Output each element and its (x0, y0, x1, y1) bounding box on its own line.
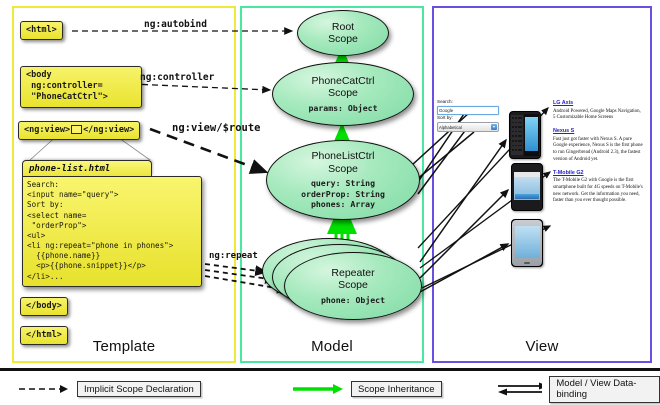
double-arrow-icon (497, 382, 542, 396)
phone3-screen (515, 226, 540, 258)
partial-phone-list: phone-list.html Search: <input name="que… (22, 160, 202, 287)
phone-thumbnail-tmobile-g2 (511, 219, 543, 267)
scope-phonecatctrl-props: params: Object (308, 103, 377, 114)
phone1-keyboard (511, 115, 523, 155)
phone1-key (520, 131, 522, 133)
diagram-canvas: Template Model View (0, 0, 660, 405)
phone1-key (520, 117, 522, 119)
partial-filename: phone-list.html (22, 160, 152, 176)
legend-item-inheritance: Scope Inheritance (292, 381, 442, 397)
tag-ngview-close: </ng:view> (83, 125, 134, 135)
phone3-home-button (524, 262, 530, 265)
phone1-key (520, 122, 522, 124)
scope-phonecatctrl-title: PhoneCatCtrl Scope (311, 75, 374, 100)
phone1-key (512, 117, 514, 119)
phone2-dock (515, 194, 539, 199)
label-ng-autobind: ng:autobind (144, 19, 207, 30)
scope-repeater-stack: Repeater Scope phone: Object (262, 238, 422, 324)
list-item: LG Axis Android Powered, Google Maps Nav… (553, 100, 643, 122)
partial-code: Search: <input name="query"> Sort by: <s… (22, 176, 202, 287)
phone-snippet-lg-axis: Android Powered, Google Maps Navigation,… (553, 109, 643, 123)
tag-ngview-open: <ng:view> (24, 125, 70, 135)
phone-snippet-nexus-s: Fast just got faster with Nexus S. A pur… (553, 137, 643, 164)
phone1-key (512, 140, 514, 142)
list-item: Nexus S Fast just got faster with Nexus … (553, 128, 643, 164)
phone1-key (515, 149, 517, 151)
phone1-key (520, 126, 522, 128)
dashed-arrow-icon (18, 383, 70, 395)
ngview-placeholder-box (71, 125, 82, 134)
scope-phonelistctrl-props: query: String orderProp: String phones: … (301, 178, 385, 210)
phone1-key (515, 131, 517, 133)
phone-link-nexus-s[interactable]: Nexus S (553, 128, 643, 135)
phone1-key (512, 145, 514, 147)
sort-label: Sort by: (437, 115, 499, 122)
panel-view-label: View (434, 338, 650, 355)
phone1-key (520, 149, 522, 151)
search-input[interactable]: Google (437, 106, 499, 115)
view-search-form: Search: Google Sort by: Alphabetical ▾ (437, 99, 499, 132)
legend-divider (0, 368, 660, 371)
phone-link-tmobile-g2[interactable]: T-Mobile G2 (553, 170, 643, 177)
tag-html-close: </html> (20, 326, 68, 345)
phone1-key (512, 135, 514, 137)
phone1-key (515, 140, 517, 142)
legend-item-implicit: Implicit Scope Declaration (18, 381, 201, 397)
sort-select[interactable]: Alphabetical ▾ (437, 122, 499, 132)
phone1-key (515, 135, 517, 137)
scope-phonelistctrl: PhoneListCtrl Scope query: String orderP… (266, 140, 420, 220)
phone1-key (518, 117, 520, 119)
tag-html-open: <html> (20, 21, 63, 40)
phone1-key (515, 117, 517, 119)
sort-select-value: Alphabetical (439, 125, 462, 130)
legend-label-inheritance: Scope Inheritance (351, 381, 442, 397)
phone1-key (520, 135, 522, 137)
legend-label-implicit: Implicit Scope Declaration (77, 381, 201, 397)
label-ng-controller: ng:controller (140, 72, 214, 83)
scope-root: Root Scope (297, 10, 389, 56)
legend-item-databinding: Model / View Data-binding (497, 381, 660, 397)
phone1-key (515, 126, 517, 128)
legend-label-databinding: Model / View Data-binding (549, 376, 660, 403)
tag-ngview: <ng:view></ng:view> (18, 121, 140, 140)
phone1-key (512, 126, 514, 128)
tag-body-open: <body ng:controller= "PhoneCatCtrl"> (20, 66, 142, 108)
phone-list: LG Axis Android Powered, Google Maps Nav… (553, 100, 643, 211)
chevron-down-icon: ▾ (491, 124, 497, 130)
label-ng-view-route: ng:view/$route (172, 122, 261, 134)
phone1-key (518, 140, 520, 142)
label-ng-repeat: ng:repeat (209, 251, 258, 261)
phone-thumbnail-lg-axis (509, 111, 541, 159)
list-item: T-Mobile G2 The T-Mobile G2 with Google … (553, 170, 643, 206)
phone1-key (518, 122, 520, 124)
phone1-key (515, 145, 517, 147)
phone1-key (518, 126, 520, 128)
search-label: Search: (437, 99, 499, 106)
scope-repeater-title: Repeater Scope (331, 267, 374, 292)
solid-arrow-icon (292, 383, 344, 395)
phone1-screen (525, 117, 538, 151)
panel-model-label: Model (242, 338, 422, 355)
phone1-key (520, 140, 522, 142)
phone1-key (518, 135, 520, 137)
tag-body-close: </body> (20, 297, 68, 316)
phone1-key (518, 149, 520, 151)
phone1-key (512, 131, 514, 133)
phone1-key (512, 122, 514, 124)
phone-snippet-tmobile-g2: The T-Mobile G2 with Google is the first… (553, 178, 643, 205)
phone-link-lg-axis[interactable]: LG Axis (553, 100, 643, 107)
scope-root-title: Root Scope (328, 21, 358, 46)
phone1-key (512, 149, 514, 151)
scope-phonecatctrl: PhoneCatCtrl Scope params: Object (272, 62, 414, 126)
phone1-key (515, 122, 517, 124)
phone2-statusbar (514, 172, 540, 177)
phone1-key (518, 145, 520, 147)
phone1-key (520, 145, 522, 147)
scope-repeater-props: phone: Object (321, 295, 385, 306)
phone1-key (518, 131, 520, 133)
phone-thumbnail-nexus-s (511, 163, 543, 211)
scope-phonelistctrl-title: PhoneListCtrl Scope (311, 150, 374, 175)
scope-repeater: Repeater Scope phone: Object (284, 252, 422, 320)
